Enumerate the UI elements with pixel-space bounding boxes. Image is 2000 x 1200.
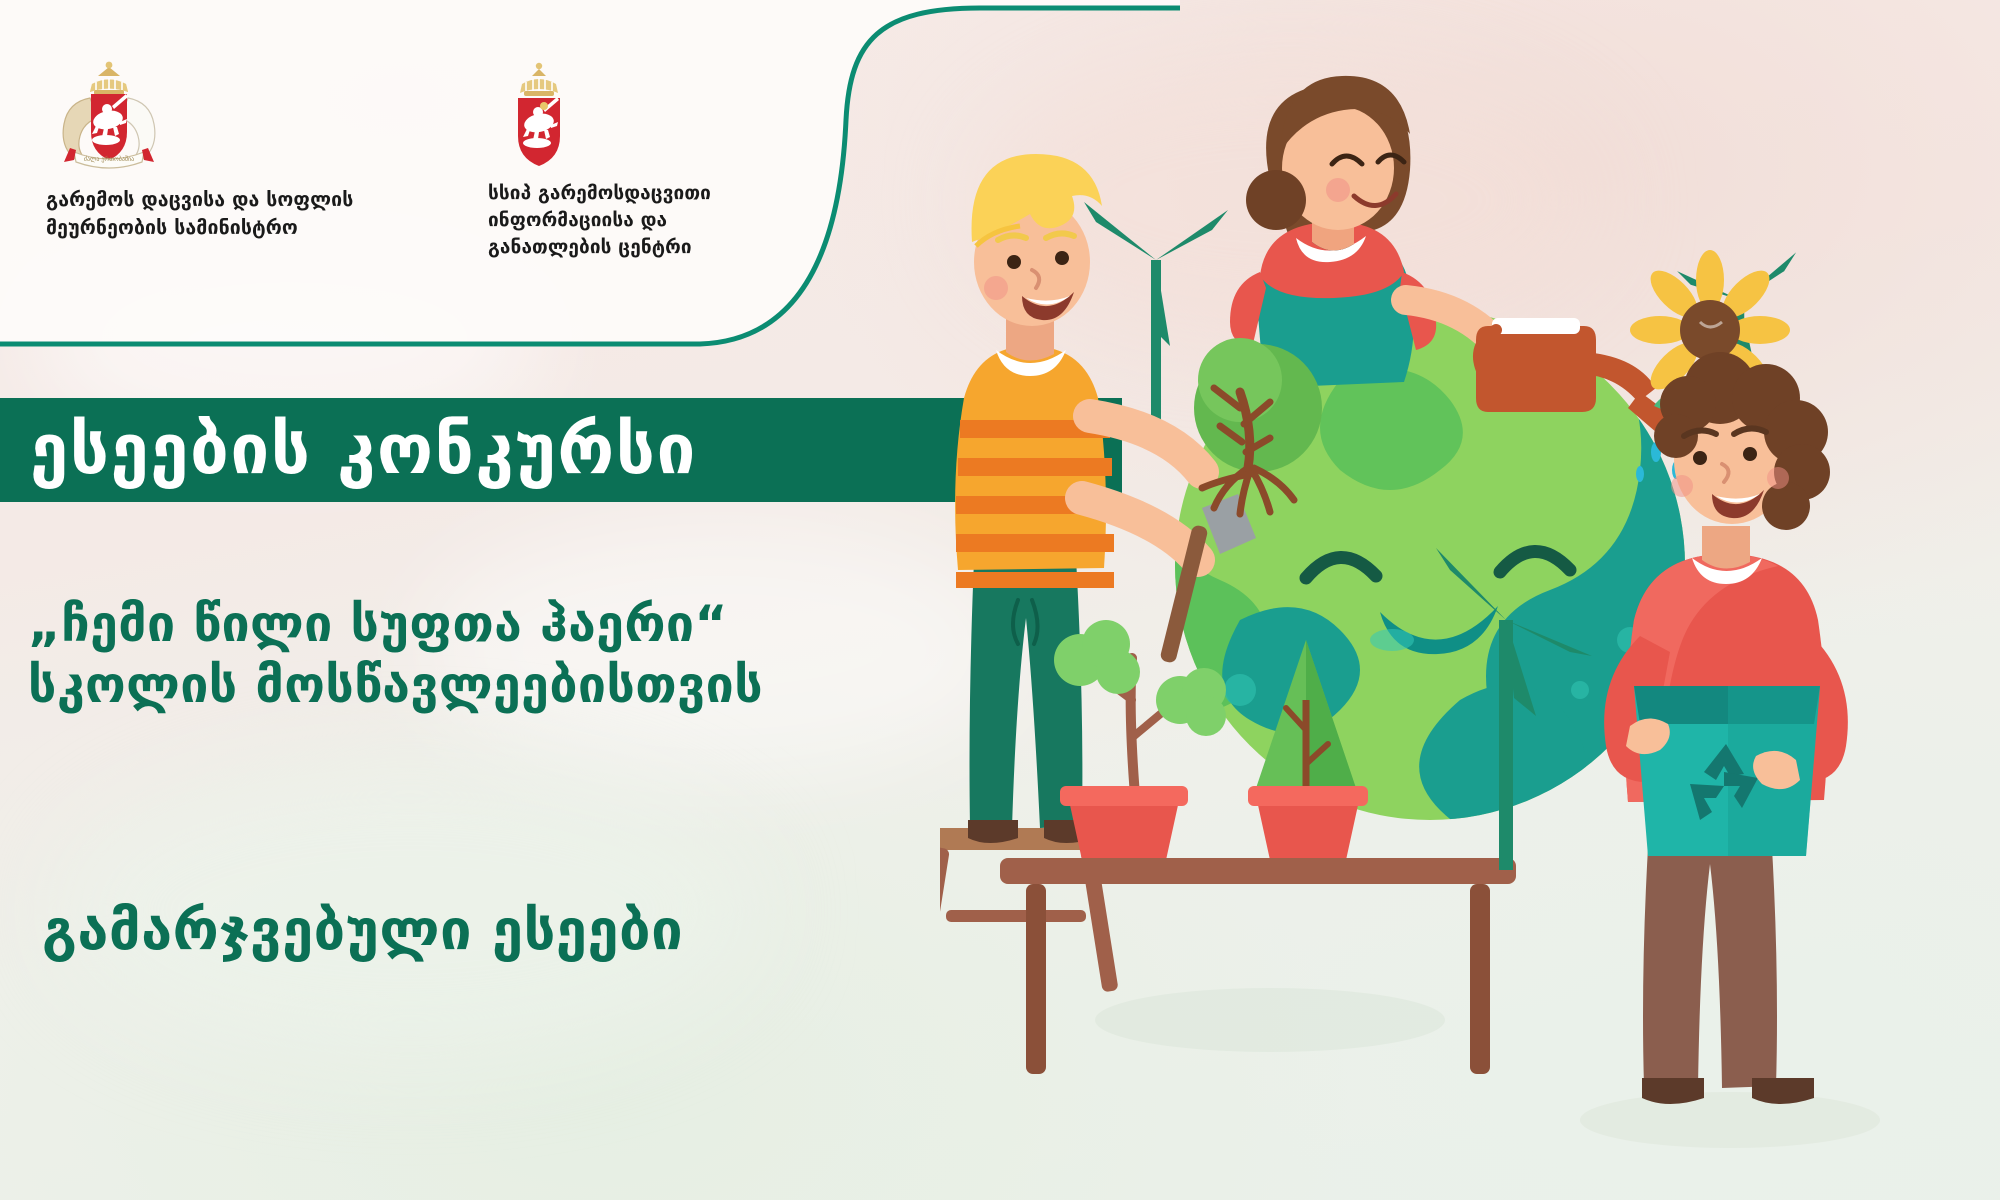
svg-text:ძალა ერთობაშია: ძალა ერთობაშია bbox=[84, 156, 134, 163]
logo-ministry-text: გარემოს დაცვისა და სოფლის მეურნეობის სამ… bbox=[46, 186, 406, 241]
ground-shadow bbox=[1095, 988, 1445, 1052]
logo-row: ძალა ერთობაშია გარემოს დაცვისა და სოფლის… bbox=[46, 60, 818, 261]
logo-ministry: ძალა ერთობაშია გარემოს დაცვისა და სოფლის… bbox=[46, 60, 406, 241]
ground-shadow bbox=[1580, 1092, 1880, 1148]
logo-center-line3: განათლების ცენტრი bbox=[488, 236, 692, 258]
banner-title: ესეების კონკურსი bbox=[0, 416, 697, 485]
logo-center-line2: ინფორმაციისა და bbox=[488, 209, 667, 231]
subtitle-line1: „ჩემი წილი სუფთა ჰაერი“ bbox=[28, 595, 728, 653]
globe-cheek bbox=[1370, 629, 1414, 651]
poster-canvas: ძალა ერთობაშია გარემოს დაცვისა და სოფლის… bbox=[0, 0, 2000, 1200]
logo-center: სსიპ გარემოსდაცვითი ინფორმაციისა და განა… bbox=[488, 60, 818, 261]
kids-planting-earth-illustration bbox=[940, 0, 2000, 1200]
logo-ministry-line1: გარემოს დაცვისა და სოფლის bbox=[46, 188, 353, 211]
logo-center-line1: სსიპ გარემოსდაცვითი bbox=[488, 182, 711, 204]
georgia-coat-of-arms-icon: ძალა ერთობაშია bbox=[46, 60, 406, 172]
georgia-shield-crest-icon bbox=[488, 60, 818, 170]
logo-ministry-line2: მეურნეობის სამინისტრო bbox=[46, 216, 298, 239]
logo-center-text: სსიპ გარემოსდაცვითი ინფორმაციისა და განა… bbox=[488, 180, 818, 261]
